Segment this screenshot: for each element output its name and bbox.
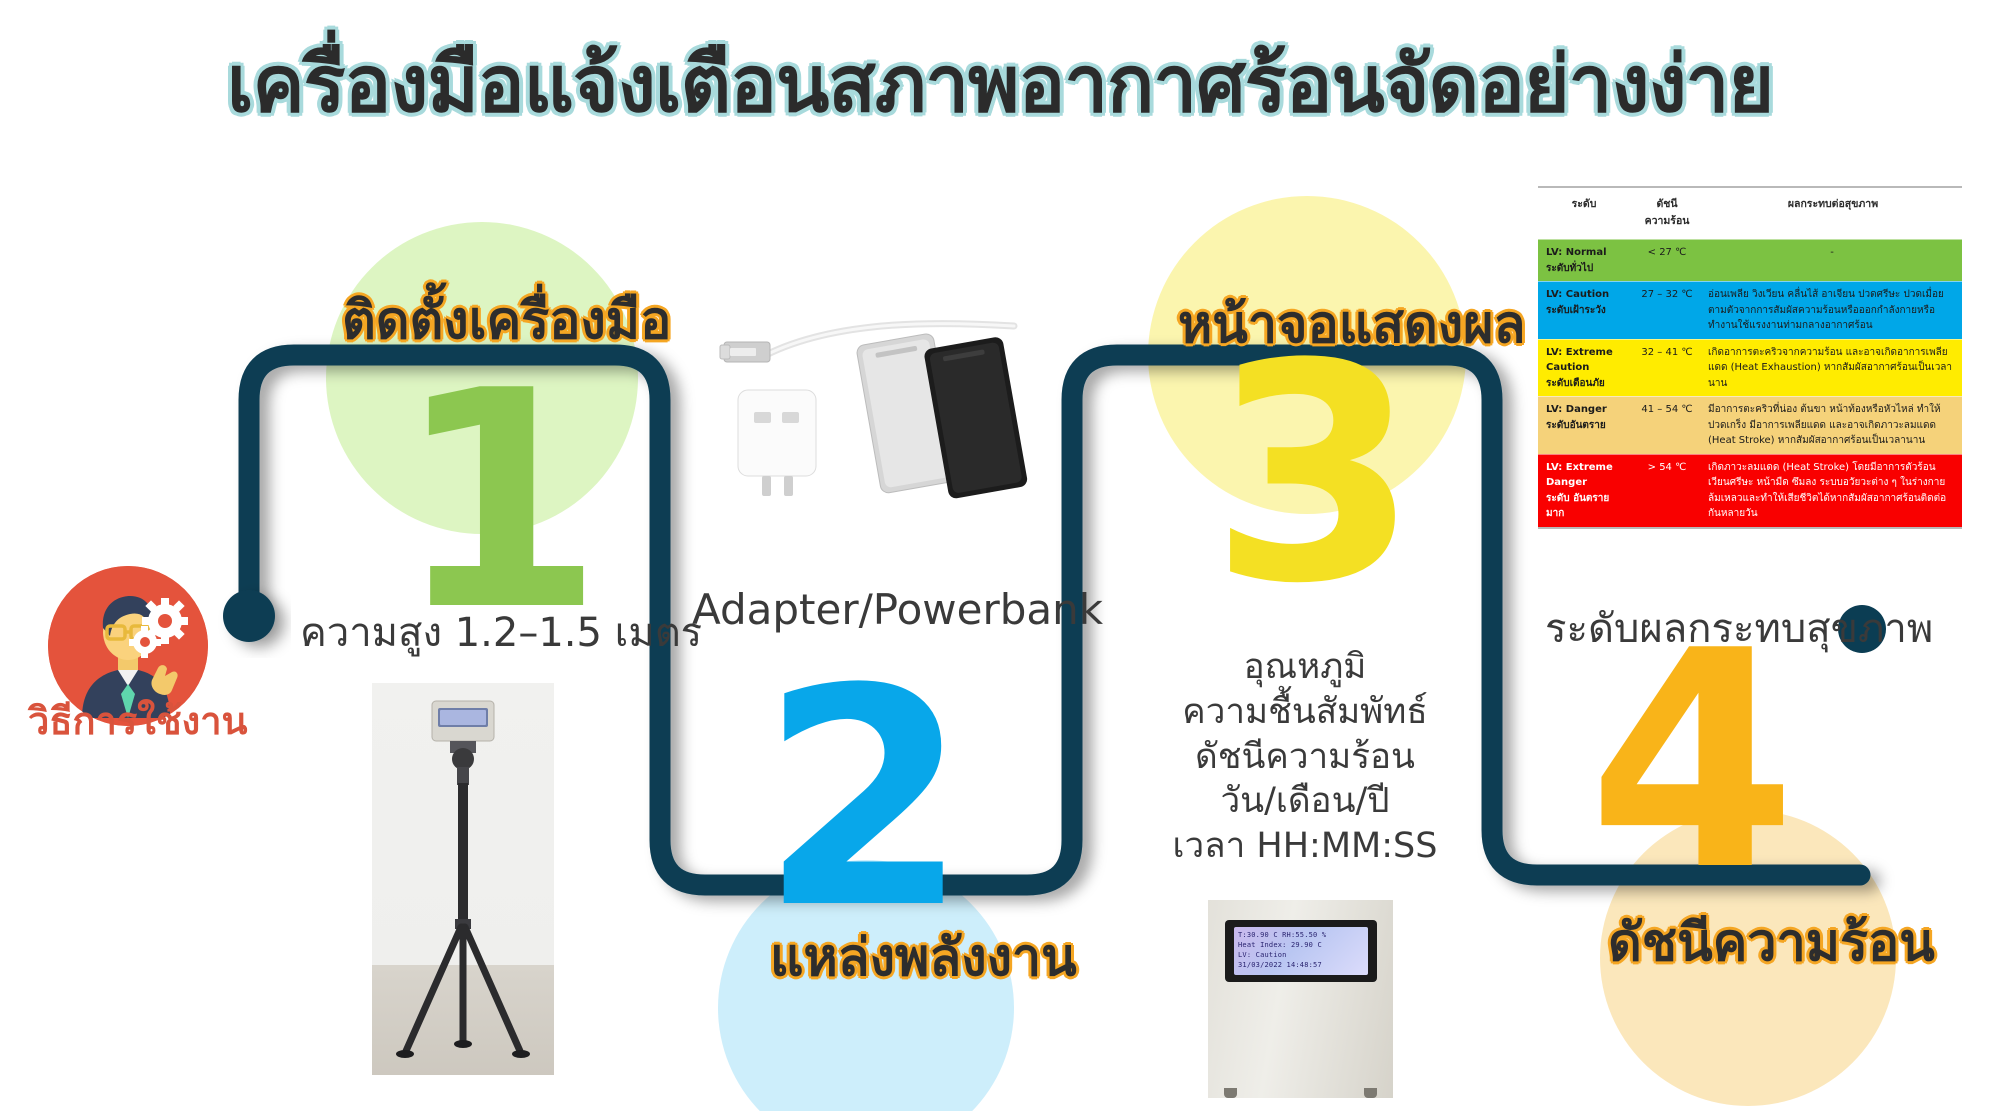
table-row: LV: Extreme Caution ระดับเตือนภัย 32 – 4… (1538, 339, 1962, 397)
row-range: < 27 ℃ (1630, 240, 1704, 281)
lcd-display-device-photo: T:30.90 C RH:55.50 % Heat Index: 29.90 C… (1208, 900, 1393, 1098)
step-2-caption: Adapter/Powerbank (692, 585, 1103, 634)
row-range: 32 – 41 ℃ (1630, 340, 1704, 397)
lcd-foot (1364, 1088, 1377, 1098)
row-effect: มีอาการตะคริวที่น่อง ต้นขา หน้าท้องหรือห… (1704, 397, 1962, 454)
step-3-caption-line: อุณหภูมิ (1145, 645, 1465, 690)
table-row: LV: Danger ระดับอันตราย 41 – 54 ℃ มีอากา… (1538, 396, 1962, 454)
row-level: LV: Normal ระดับทั่วไป (1538, 240, 1630, 281)
step-2-number: 2 (760, 650, 969, 950)
row-level-th: ระดับ อันตรายมาก (1546, 491, 1626, 522)
howto-label: วิธีการใช้งาน (28, 690, 233, 751)
header-index-line2: ความร้อน (1630, 212, 1704, 229)
row-level-th: ระดับทั่วไป (1546, 261, 1626, 277)
row-level-en: LV: Danger (1546, 402, 1626, 418)
step-1-caption: ความสูง 1.2–1.5 เมตร (300, 600, 702, 664)
lcd-screen: T:30.90 C RH:55.50 % Heat Index: 29.90 C… (1234, 927, 1368, 975)
row-level: LV: Extreme Caution ระดับเตือนภัย (1538, 340, 1630, 397)
header-index: ดัชนี ความร้อน (1630, 195, 1704, 229)
infographic-canvas: เครื่องมือแจ้งเตือนสภาพอากาศร้อนจัดอย่าง… (0, 0, 2000, 1111)
row-effect: เกิดอาการตะคริวจากความร้อน และอาจเกิดอาก… (1704, 340, 1962, 397)
row-level: LV: Extreme Danger ระดับ อันตรายมาก (1538, 455, 1630, 527)
heat-index-table: ระดับ ดัชนี ความร้อน ผลกระทบต่อสุขภาพ LV… (1538, 186, 1962, 529)
row-effect: - (1704, 240, 1962, 281)
table-row: LV: Extreme Danger ระดับ อันตรายมาก > 54… (1538, 454, 1962, 527)
step-3-label: หน้าจอแสดงผล (1178, 282, 1525, 365)
row-effect: เกิดภาวะลมแดด (Heat Stroke) โดยมีอาการตั… (1704, 455, 1962, 527)
lcd-foot (1224, 1088, 1237, 1098)
row-level-en: LV: Normal (1546, 245, 1626, 261)
table-row: LV: Normal ระดับทั่วไป < 27 ℃ - (1538, 239, 1962, 281)
row-level-th: ระดับเฝ้าระวัง (1546, 303, 1626, 319)
heat-index-table-header: ระดับ ดัชนี ความร้อน ผลกระทบต่อสุขภาพ (1538, 188, 1962, 239)
lcd-line-temp-humidity: T:30.90 C RH:55.50 % (1238, 930, 1364, 940)
row-level-th: ระดับเตือนภัย (1546, 376, 1626, 392)
step-3-caption-line: วัน/เดือน/ปี (1145, 779, 1465, 824)
lcd-line-heat-index: Heat Index: 29.90 C (1238, 940, 1364, 950)
step-4-caption: ระดับผลกระทบสุขภาพ (1545, 596, 1933, 660)
row-range: 27 – 32 ℃ (1630, 282, 1704, 339)
row-level-en: LV: Extreme Danger (1546, 460, 1626, 491)
step-3-caption-line: ดัชนีความร้อน (1145, 735, 1465, 780)
adapter-and-powerbank-photo (700, 300, 1060, 540)
row-range: > 54 ℃ (1630, 455, 1704, 527)
lcd-line-level: LV: Caution (1238, 950, 1364, 960)
step-3-caption-line: เวลา HH:MM:SS (1145, 824, 1465, 869)
lcd-enclosure-base (1214, 1076, 1387, 1090)
lcd-line-datetime: 31/03/2022 14:48:57 (1238, 960, 1364, 970)
header-effect: ผลกระทบต่อสุขภาพ (1704, 195, 1962, 229)
row-effect: อ่อนเพลีย วิงเวียน คลื่นไส้ อาเจียน ปวดศ… (1704, 282, 1962, 339)
row-level-en: LV: Extreme Caution (1546, 345, 1626, 376)
page-title: เครื่องมือแจ้งเตือนสภาพอากาศร้อนจัดอย่าง… (0, 22, 2000, 146)
header-level: ระดับ (1538, 195, 1630, 229)
step-3-caption-line: ความชื้นสัมพัทธ์ (1145, 690, 1465, 735)
ribbon-start-dot (223, 590, 275, 642)
step-1-label: ติดตั้งเครื่องมือ (342, 278, 671, 361)
step-2-label: แหล่งพลังงาน (770, 915, 1077, 998)
row-range: 41 – 54 ℃ (1630, 397, 1704, 454)
tripod-with-device-photo (372, 683, 554, 1075)
row-level-th: ระดับอันตราย (1546, 418, 1626, 434)
row-level: LV: Caution ระดับเฝ้าระวัง (1538, 282, 1630, 339)
table-row: LV: Caution ระดับเฝ้าระวัง 27 – 32 ℃ อ่อ… (1538, 281, 1962, 339)
row-level: LV: Danger ระดับอันตราย (1538, 397, 1630, 454)
step-4-label: ดัชนีความร้อน (1608, 900, 1935, 983)
step-3-number: 3 (1210, 325, 1419, 625)
header-index-line1: ดัชนี (1630, 195, 1704, 212)
step-3-caption: อุณหภูมิ ความชื้นสัมพัทธ์ ดัชนีความร้อน … (1145, 645, 1465, 869)
lcd-bezel: T:30.90 C RH:55.50 % Heat Index: 29.90 C… (1225, 920, 1377, 982)
row-level-en: LV: Caution (1546, 287, 1626, 303)
